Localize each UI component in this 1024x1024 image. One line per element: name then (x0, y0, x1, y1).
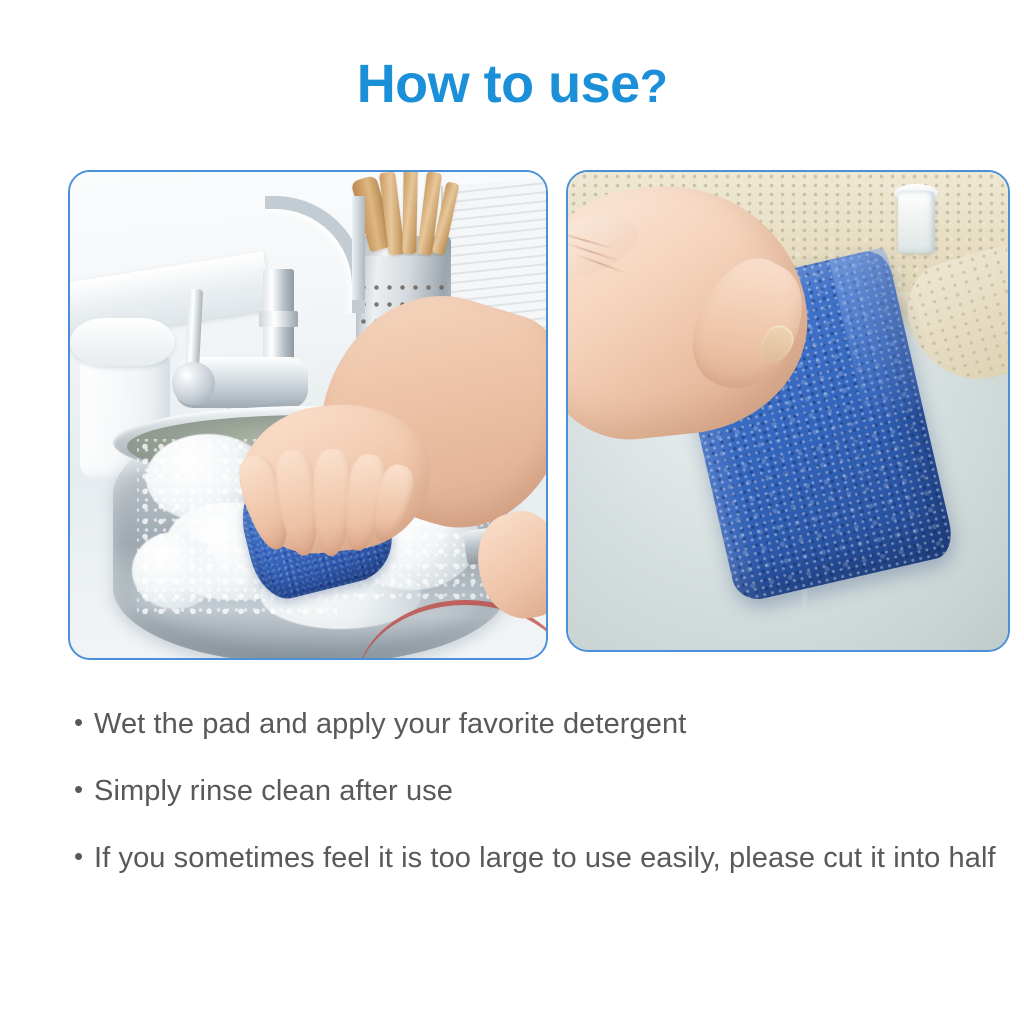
list-item-text: Wet the pad and apply your favorite dete… (94, 704, 1024, 745)
wooden-utensil (402, 172, 418, 255)
instructions-list: • Wet the pad and apply your favorite de… (74, 704, 1024, 906)
list-item: • Simply rinse clean after use (74, 771, 1024, 812)
photo-rinsing-sponge-stage (568, 172, 1008, 650)
photo-rinsing-sponge (566, 170, 1010, 652)
bullet-dot-icon: • (74, 704, 94, 741)
white-canister-lid (70, 318, 175, 367)
bullet-dot-icon: • (74, 771, 94, 808)
list-item-text: Simply rinse clean after use (94, 771, 1024, 812)
photo-washing-pot (68, 170, 548, 660)
page-title-question-mark: ? (640, 60, 668, 112)
faucet-handle-base (172, 362, 215, 406)
page-title: How to use? (0, 56, 1024, 113)
list-item-text: If you sometimes feel it is too large to… (94, 838, 1009, 879)
infographic-page: How to use? (0, 0, 1024, 1024)
list-item: • If you sometimes feel it is too large … (74, 838, 1024, 879)
photo-washing-pot-stage (70, 172, 546, 658)
faucet-spout-ring (259, 311, 298, 328)
bullet-dot-icon: • (74, 838, 94, 875)
drain-stopper-knob (898, 191, 935, 253)
page-title-text: How to use (357, 54, 640, 114)
list-item: • Wet the pad and apply your favorite de… (74, 704, 1024, 745)
